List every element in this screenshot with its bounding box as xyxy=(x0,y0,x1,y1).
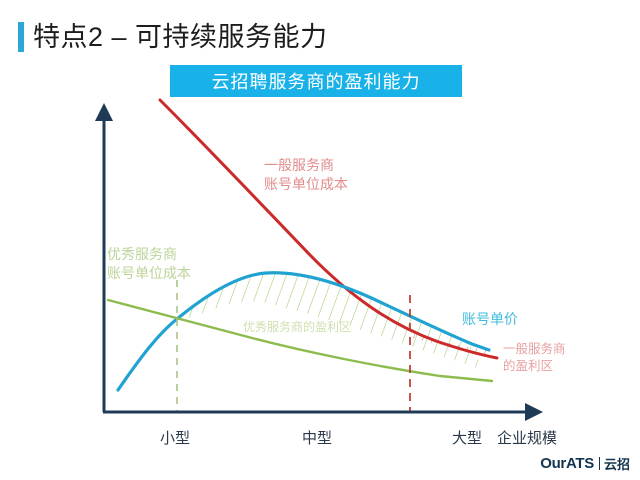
annotation-excellent-profit-zone: 优秀服务商的盈利区 xyxy=(243,318,351,337)
annotation-general-cost-line2: 账号单位成本 xyxy=(264,175,348,194)
profitability-chart xyxy=(0,0,640,480)
annotation-general-cost: 一般服务商 账号单位成本 xyxy=(264,156,348,194)
ourats-logo: Our ATS 云招 xyxy=(540,454,630,472)
logo-our-text: Our xyxy=(540,455,566,472)
annotation-excellent-cost-line1: 优秀服务商 xyxy=(107,245,191,264)
x-tick-small: 小型 xyxy=(160,427,190,448)
annotation-general-profit-line1: 一般服务商 xyxy=(503,341,566,358)
slide-root: 特点2 – 可持续服务能力 云招聘服务商的盈利能力 xyxy=(0,0,640,480)
x-tick-medium: 中型 xyxy=(302,427,332,448)
logo-cn-text: 云招 xyxy=(604,454,630,473)
annotation-general-profit-zone: 一般服务商 的盈利区 xyxy=(503,341,566,375)
logo-separator xyxy=(599,457,600,470)
x-axis-title: 企业规模 xyxy=(497,427,557,448)
annotation-general-cost-line1: 一般服务商 xyxy=(264,156,348,175)
annotation-unit-price: 账号单价 xyxy=(462,310,518,329)
x-tick-large: 大型 xyxy=(452,427,482,448)
annotation-general-profit-line2: 的盈利区 xyxy=(503,358,566,375)
logo-ats-text: ATS xyxy=(566,455,594,472)
annotation-excellent-cost: 优秀服务商 账号单位成本 xyxy=(107,245,191,283)
annotation-excellent-cost-line2: 账号单位成本 xyxy=(107,264,191,283)
